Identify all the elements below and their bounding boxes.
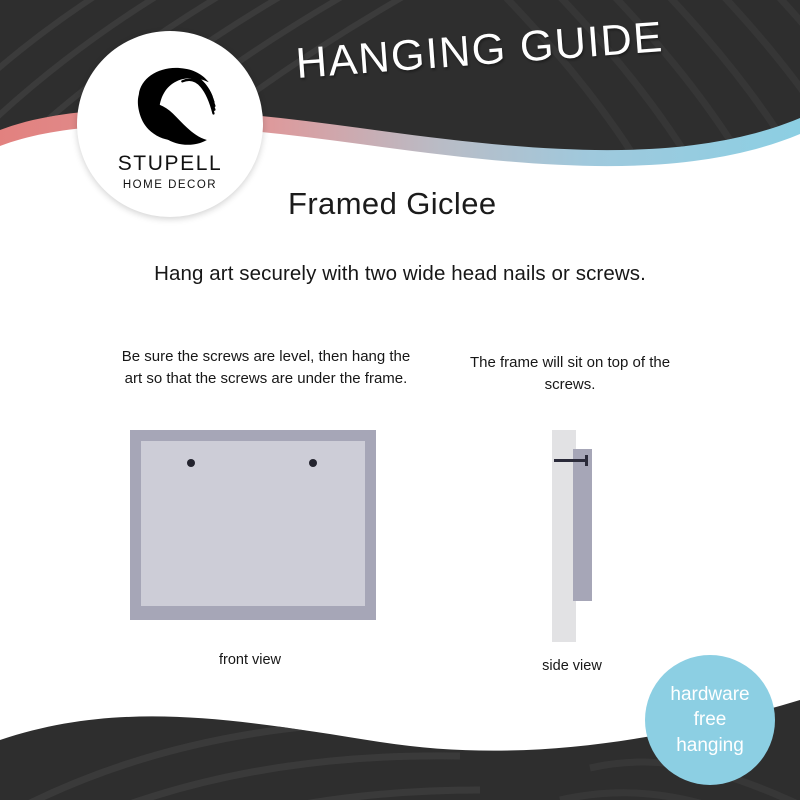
side-view-diagram — [552, 430, 614, 642]
side-view-label: side view — [492, 658, 652, 674]
logo-tagline: HOME DECOR — [123, 180, 217, 192]
badge-line-2: free — [694, 707, 727, 732]
hanging-guide-page: STUPELL HOME DECOR HANGING GUIDE Framed … — [0, 0, 800, 800]
badge-line-1: hardware — [670, 682, 749, 707]
side-view-caption: The frame will sit on top of the screws. — [452, 352, 688, 396]
front-view-label: front view — [160, 652, 340, 668]
front-view-artwork-area — [141, 441, 365, 606]
front-view-diagram — [130, 430, 376, 620]
stupell-swoosh-icon — [118, 53, 222, 157]
front-view-caption: Be sure the screws are level, then hang … — [118, 346, 414, 390]
hardware-free-hanging-badge: hardware free hanging — [645, 655, 775, 785]
lead-instruction-text: Hang art securely with two wide head nai… — [0, 262, 800, 286]
side-view-frame — [573, 449, 592, 601]
page-title: Framed Giclee — [288, 186, 497, 222]
nail-head-icon — [585, 455, 588, 466]
screw-dot-right — [309, 459, 317, 467]
stupell-logo-badge: STUPELL HOME DECOR — [77, 31, 263, 217]
badge-line-3: hanging — [676, 733, 744, 758]
screw-dot-left — [187, 459, 195, 467]
logo-wordmark: STUPELL — [118, 153, 223, 174]
nail-shaft-icon — [554, 459, 588, 462]
page-header-title: HANGING GUIDE — [294, 13, 665, 89]
